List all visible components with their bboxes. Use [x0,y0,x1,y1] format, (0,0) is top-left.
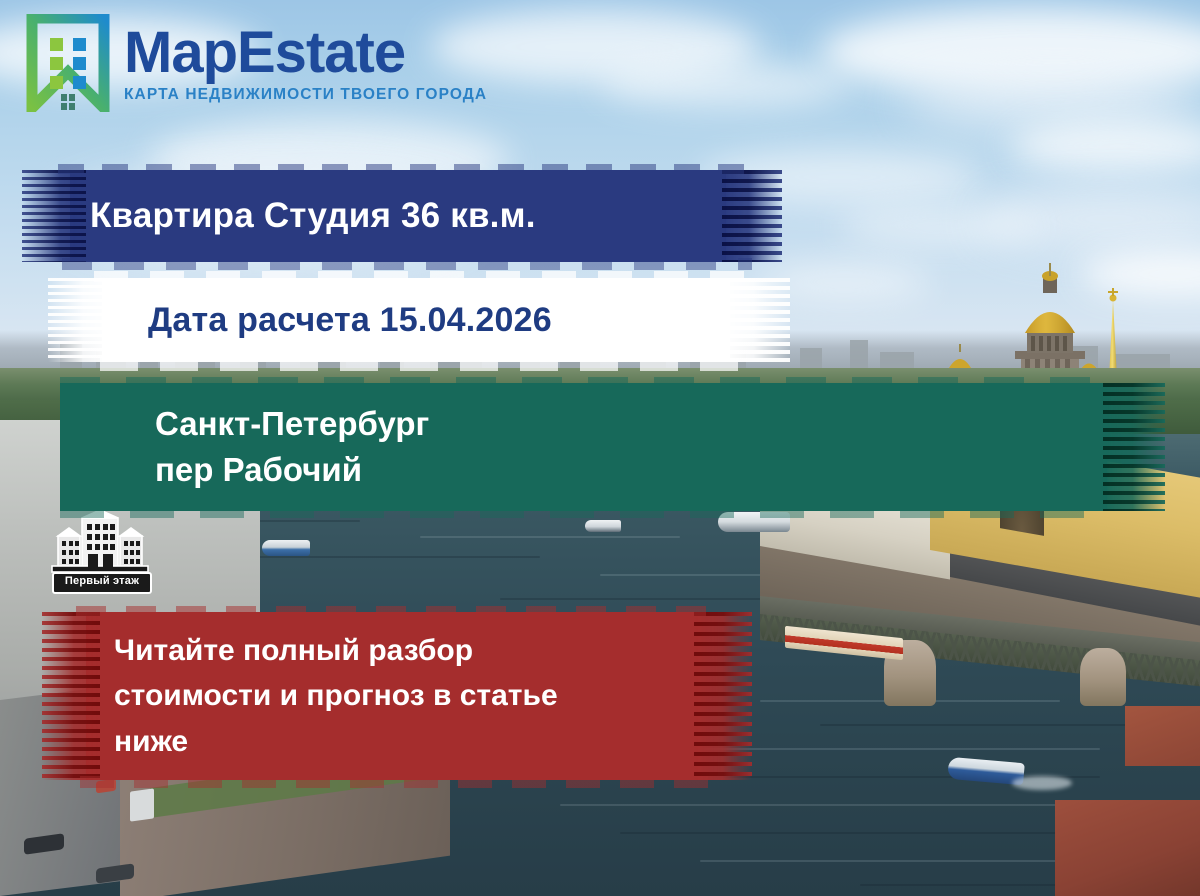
truck [130,788,154,821]
watermark-label: Первый этаж [52,572,152,594]
banner-date-text: Дата расчета 15.04.2026 [48,301,790,340]
city-line-2: пер Рабочий [155,447,1165,493]
banner-calculation-date: Дата расчета 15.04.2026 [48,278,790,362]
boat [585,520,621,532]
promo-card: MapEstate КАРТА НЕДВИЖИМОСТИ ТВОЕГО ГОРО… [0,0,1200,896]
brand-logo[interactable]: MapEstate КАРТА НЕДВИЖИМОСТИ ТВОЕГО ГОРО… [26,14,487,112]
banner-city-address: Санкт-Петербург пер Рабочий [60,383,1165,511]
banner-title-text: Квартира Студия 36 кв.м. [22,196,782,236]
banner-city-text: Санкт-Петербург пер Рабочий [60,401,1165,492]
logo-tagline: КАРТА НЕДВИЖИМОСТИ ТВОЕГО ГОРОДА [124,87,487,103]
red-roof [1055,800,1200,896]
cta-line-3: ниже [114,719,752,765]
city-line-1: Санкт-Петербург [155,401,1165,447]
cta-line-1: Читайте полный разбор [114,628,752,674]
boat [262,540,310,556]
banner-cta-text: Читайте полный разбор стоимости и прогно… [42,628,752,765]
watermark-pervyj-etazh: Первый этаж [48,508,152,594]
banner-apartment-title: Квартира Студия 36 кв.м. [22,170,782,262]
building-icon [48,508,152,580]
red-roof [1125,706,1200,766]
bookmark-building-icon [26,14,110,112]
bridge-pier [1080,648,1126,706]
banner-call-to-action: Читайте полный разбор стоимости и прогно… [42,612,752,780]
cta-line-2: стоимости и прогноз в статье [114,673,752,719]
logo-name: MapEstate [124,25,487,80]
